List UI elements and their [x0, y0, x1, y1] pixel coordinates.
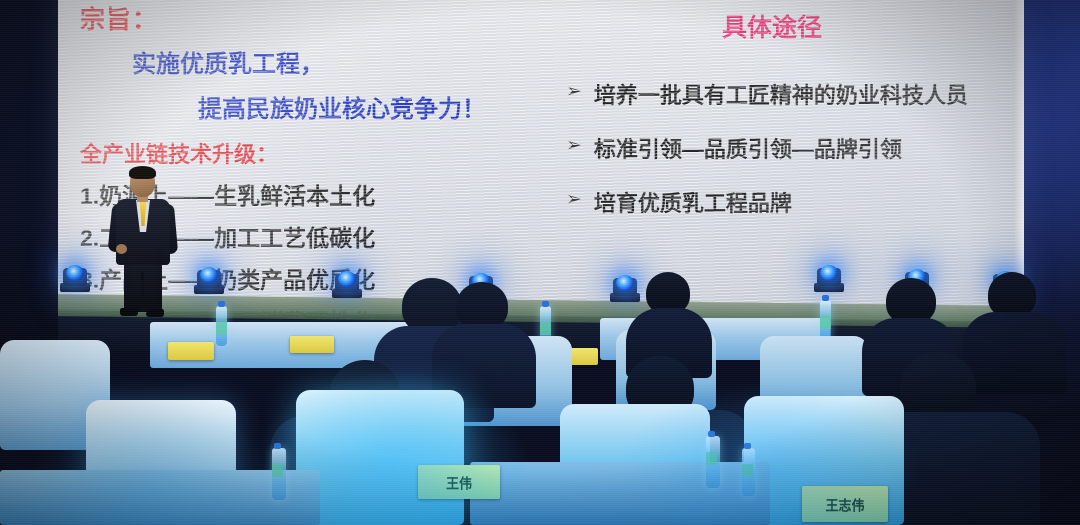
water-bottle: [216, 306, 227, 346]
water-bottle: [706, 436, 720, 488]
moving-head-light: [192, 264, 226, 294]
audience-chair: [296, 390, 464, 525]
audience-table: [470, 462, 770, 525]
water-bottle: [272, 448, 286, 500]
slide-purpose-line-2: 提高民族奶业核心竞争力！: [198, 89, 530, 124]
arrow-bullet-icon: ➢: [566, 82, 582, 101]
name-card: 王伟: [418, 465, 500, 499]
slide-right-column: 具体途径 ➢ 培养一批具有工匠精神的奶业科技人员 ➢ 标准引领—品质引领—品牌引…: [566, 8, 1006, 218]
arrow-bullet-icon: ➢: [566, 136, 582, 155]
arrow-bullet-icon: ➢: [566, 190, 582, 209]
slide-path-heading: 具体途径: [538, 8, 1006, 44]
slide-purpose-line-1: 实施优质乳工程，: [132, 44, 530, 79]
water-bottle: [742, 448, 755, 496]
water-bottle: [820, 300, 831, 340]
bullet-label: 培养一批具有工匠精神的奶业科技人员: [594, 78, 968, 110]
list-item: ➢ 培育优质乳工程品牌: [566, 186, 1006, 218]
name-card: [168, 342, 214, 360]
moving-head-light: [58, 262, 92, 292]
list-item: ➢ 标准引领—品质引领—品牌引领: [566, 132, 1006, 164]
list-item: ➢ 培养一批具有工匠精神的奶业科技人员: [566, 78, 1006, 110]
slide-purpose-heading: 宗旨：: [80, 0, 530, 36]
speaker-figure: [108, 168, 182, 316]
name-card: 王志伟: [802, 486, 888, 522]
moving-head-light: [330, 268, 364, 298]
conference-photo: 宗旨： 实施优质乳工程， 提高民族奶业核心竞争力！ 全产业链技术升级： 1.奶源…: [0, 0, 1080, 525]
name-card-label: 王志伟: [825, 494, 864, 515]
bullet-label: 培育优质乳工程品牌: [594, 186, 792, 218]
moving-head-light: [608, 272, 642, 302]
moving-head-light: [812, 262, 846, 292]
name-card: [290, 336, 334, 353]
name-card-label: 王伟: [446, 472, 472, 493]
slide-bullet-list: ➢ 培养一批具有工匠精神的奶业科技人员 ➢ 标准引领—品质引领—品牌引领 ➢ 培…: [566, 78, 1006, 218]
bullet-label: 标准引领—品质引领—品牌引领: [594, 132, 902, 164]
slide-section-heading: 全产业链技术升级：: [80, 137, 530, 169]
